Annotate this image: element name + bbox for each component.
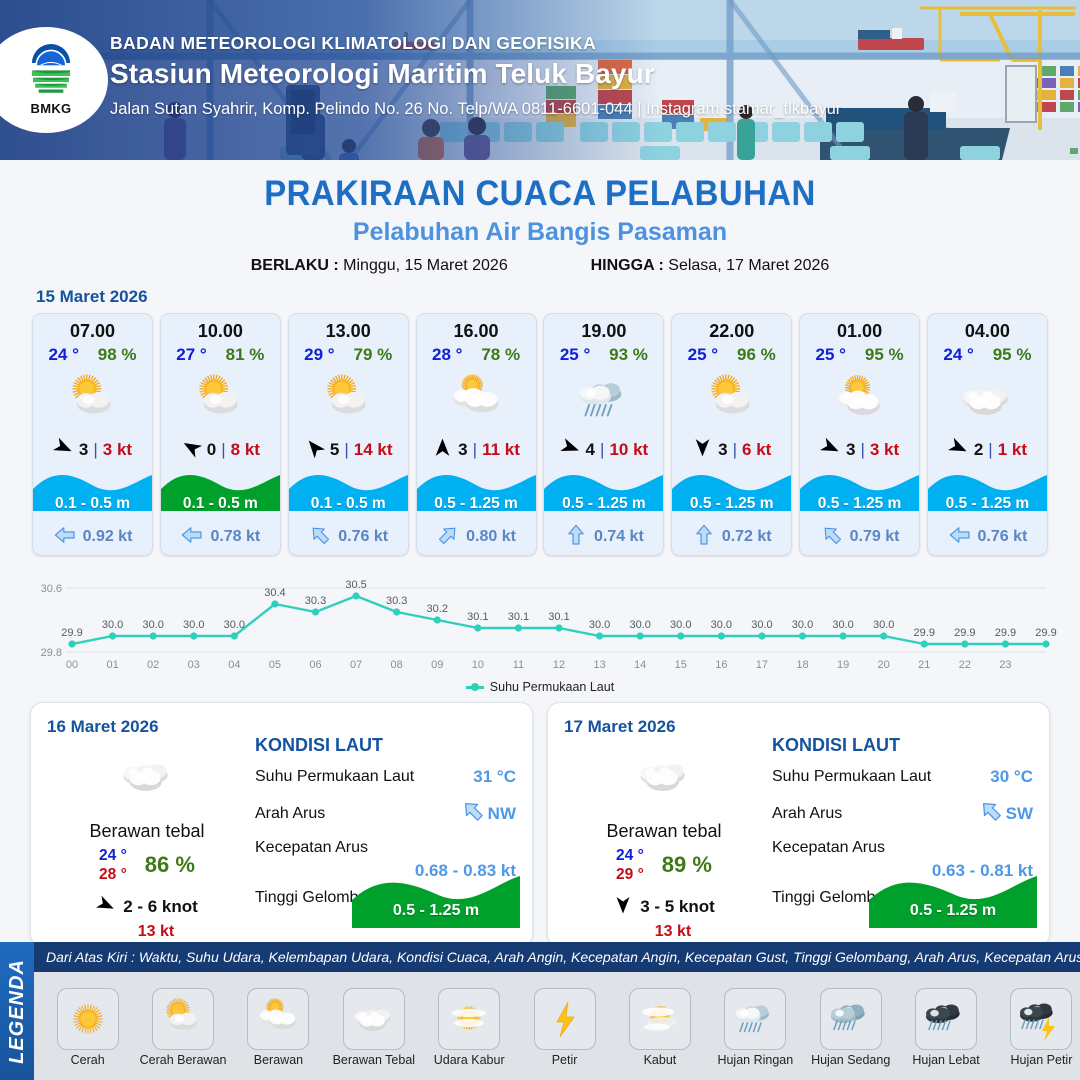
svg-text:30.0: 30.0 — [873, 619, 894, 631]
wave-height-band: 0.5 - 1.25 m — [544, 467, 663, 519]
wave-height-band: 0.5 - 1.25 m — [672, 467, 791, 519]
hingga-value: Selasa, 17 Maret 2026 — [668, 257, 829, 274]
svg-text:11: 11 — [513, 659, 524, 671]
day-wave-band: 0.5 - 1.25 m — [869, 870, 1037, 928]
legend-note: Dari Atas Kiri : Waktu, Suhu Udara, Kele… — [34, 942, 1080, 972]
bmkg-logo-text: BMKG — [31, 101, 72, 116]
current-direction-icon — [308, 523, 332, 552]
humidity: 95 % — [993, 345, 1032, 365]
berawan-icon — [417, 367, 536, 433]
berlaku-value: Minggu, 15 Maret 2026 — [343, 257, 508, 274]
current-direction-icon — [820, 523, 844, 552]
humidity: 96 % — [737, 345, 776, 365]
forecast-time: 16.00 — [417, 314, 536, 342]
current-info: 0.80 kt — [417, 519, 536, 555]
hujan-ringan-icon — [544, 367, 663, 433]
day-humidity: 89 % — [662, 852, 712, 878]
sst-chart: 30.629.829.930.030.030.030.030.430.330.5… — [20, 572, 1060, 676]
forecast-card: 04.00 24 ° 95 % 2 | 1 kt 0.5 - 1.25 m — [927, 313, 1048, 556]
forecast-time: 10.00 — [161, 314, 280, 342]
svg-text:16: 16 — [715, 659, 727, 671]
day-panel-right: KONDISI LAUT Suhu Permukaan Laut 31 °C A… — [247, 717, 516, 934]
legend-item-label: Kabut — [644, 1053, 677, 1067]
current-speed: 0.74 kt — [594, 528, 644, 546]
svg-text:30.0: 30.0 — [224, 619, 245, 631]
svg-text:30.0: 30.0 — [792, 619, 813, 631]
svg-text:13: 13 — [593, 659, 605, 671]
svg-text:19: 19 — [837, 659, 849, 671]
station-name: Stasiun Meteorologi Maritim Teluk Bayur — [110, 58, 655, 90]
chart-legend-marker — [466, 686, 484, 689]
day-panel: 16 Maret 2026 Berawan tebal 24 ° 28 ° 86… — [30, 702, 533, 947]
wave-height-value: 0.5 - 1.25 m — [417, 495, 536, 513]
current-info: 0.76 kt — [289, 519, 408, 555]
sst-value: 31 °C — [473, 767, 516, 787]
svg-text:30.0: 30.0 — [629, 619, 650, 631]
svg-text:29.9: 29.9 — [61, 627, 82, 639]
berawan-icon — [247, 988, 309, 1050]
forecast-card: 10.00 27 ° 81 % 0 | 8 kt 0.1 - 0.5 m 0.7… — [160, 313, 281, 556]
svg-text:01: 01 — [106, 659, 118, 671]
day-date: 16 Maret 2026 — [47, 717, 247, 737]
svg-text:00: 00 — [66, 659, 78, 671]
day-wave-value: 0.5 - 1.25 m — [869, 902, 1037, 920]
svg-text:15: 15 — [675, 659, 687, 671]
wave-height-band: 0.1 - 0.5 m — [33, 467, 152, 519]
wave-height-band: 0.1 - 0.5 m — [161, 467, 280, 519]
hujan-lebat-icon — [915, 988, 977, 1050]
svg-text:21: 21 — [918, 659, 930, 671]
forecast-card: 19.00 25 ° 93 % 4 | 10 kt 0.5 - 1.25 m — [543, 313, 664, 556]
day-panel-left: 16 Maret 2026 Berawan tebal 24 ° 28 ° 86… — [47, 717, 247, 934]
organization-name: BADAN METEOROLOGI KLIMATOLOGI DAN GEOFIS… — [110, 33, 596, 54]
svg-text:30.0: 30.0 — [183, 619, 204, 631]
current-speed: 0.72 kt — [722, 528, 772, 546]
legend-item: Cerah Berawan — [137, 988, 229, 1067]
legend-item: Berawan Tebal — [328, 988, 420, 1067]
forecast-time: 07.00 — [33, 314, 152, 342]
wind-info: 2 | 1 kt — [928, 433, 1047, 467]
current-direction-value: NW — [488, 804, 516, 824]
gust-speed: 11 kt — [482, 440, 520, 460]
day-gust: 13 kt — [582, 923, 764, 941]
day-temps: 24 ° 29 ° — [616, 846, 644, 885]
svg-text:29.9: 29.9 — [914, 627, 935, 639]
forecast-time: 04.00 — [928, 314, 1047, 342]
current-info: 0.79 kt — [800, 519, 919, 555]
legend-item-label: Udara Kabur — [434, 1053, 505, 1067]
svg-text:04: 04 — [228, 659, 240, 671]
day-date: 17 Maret 2026 — [564, 717, 764, 737]
current-info: 0.74 kt — [544, 519, 663, 555]
day-temp-humidity: 24 ° 29 ° 89 % — [564, 846, 764, 885]
current-speed: 0.76 kt — [978, 528, 1028, 546]
wind-range: 2 - 6 knot — [123, 897, 198, 917]
current-info: 0.78 kt — [161, 519, 280, 555]
forecast-time: 13.00 — [289, 314, 408, 342]
forecast-temp-humidity: 25 ° 95 % — [800, 342, 919, 365]
wind-info: 3 | 3 kt — [33, 433, 152, 467]
gust-speed: 3 kt — [103, 440, 132, 460]
wind-direction-icon — [820, 437, 841, 463]
svg-text:06: 06 — [309, 659, 321, 671]
hujan-sedang-icon — [820, 988, 882, 1050]
legend-item: Hujan Ringan — [709, 988, 801, 1067]
forecast-temp-humidity: 24 ° 98 % — [33, 342, 152, 365]
svg-text:30.3: 30.3 — [305, 595, 326, 607]
wind-speed: 3 — [79, 440, 88, 460]
sst-label: Suhu Permukaan Laut — [255, 768, 414, 786]
svg-text:29.9: 29.9 — [995, 627, 1016, 639]
wind-info: 3 | 11 kt — [417, 433, 536, 467]
svg-text:05: 05 — [269, 659, 281, 671]
legend-item-label: Hujan Ringan — [717, 1053, 793, 1067]
wave-height-band: 0.5 - 1.25 m — [928, 467, 1047, 519]
legend-body: Dari Atas Kiri : Waktu, Suhu Udara, Kele… — [34, 942, 1080, 1080]
gust-speed: 1 kt — [998, 440, 1027, 460]
humidity: 79 % — [353, 345, 392, 365]
legend-item: Kabut — [614, 988, 706, 1067]
current-speed: 0.78 kt — [210, 528, 260, 546]
wave-height-value: 0.1 - 0.5 m — [289, 495, 408, 513]
current-direction-row: Arah Arus NW — [255, 798, 516, 829]
day-temp-humidity: 24 ° 28 ° 86 % — [47, 846, 247, 885]
legend-item: Cerah — [42, 988, 134, 1067]
forecast-card: 01.00 25 ° 95 % 3 | 3 kt 0.5 - 1.25 m — [799, 313, 920, 556]
current-direction-icon — [948, 523, 972, 552]
wind-info: 3 | 3 kt — [800, 433, 919, 467]
forecast-temp-humidity: 28 ° 78 % — [417, 342, 536, 365]
air-temperature: 25 ° — [816, 345, 846, 365]
svg-text:02: 02 — [147, 659, 159, 671]
svg-text:30.4: 30.4 — [264, 587, 285, 599]
svg-text:30.2: 30.2 — [427, 603, 448, 615]
wind-direction-icon — [613, 895, 633, 920]
current-direction-icon — [53, 523, 77, 552]
current-direction-icon — [692, 523, 716, 552]
svg-text:14: 14 — [634, 659, 646, 671]
berawan-tebal-icon — [928, 367, 1047, 433]
current-direction-value: SW — [1006, 804, 1033, 824]
svg-text:17: 17 — [756, 659, 768, 671]
wind-info: 4 | 10 kt — [544, 433, 663, 467]
cerah-icon — [57, 988, 119, 1050]
page-subtitle: Pelabuhan Air Bangis Pasaman — [0, 218, 1080, 247]
current-direction-icon — [564, 523, 588, 552]
legend-tab: LEGENDA — [0, 942, 34, 1080]
current-info: 0.92 kt — [33, 519, 152, 555]
wave-height-value: 0.1 - 0.5 m — [33, 495, 152, 513]
svg-text:30.0: 30.0 — [751, 619, 772, 631]
day-panel-right: KONDISI LAUT Suhu Permukaan Laut 30 °C A… — [764, 717, 1033, 934]
wave-height-value: 0.5 - 1.25 m — [928, 495, 1047, 513]
wind-direction-icon — [948, 437, 969, 463]
kabut-icon — [629, 988, 691, 1050]
humidity: 93 % — [609, 345, 648, 365]
bmkg-logo-mark — [23, 44, 79, 100]
wind-separator: | — [860, 440, 864, 460]
legend-item-label: Cerah — [71, 1053, 105, 1067]
cerah-berawan-icon — [152, 988, 214, 1050]
svg-text:29.9: 29.9 — [1035, 627, 1056, 639]
svg-text:30.1: 30.1 — [508, 611, 529, 623]
temp-max: 28 ° — [99, 865, 127, 884]
cerah-berawan-icon — [672, 367, 791, 433]
humidity: 95 % — [865, 345, 904, 365]
current-direction-value-group: NW — [460, 798, 516, 829]
chart-legend-label: Suhu Permukaan Laut — [490, 680, 614, 694]
wind-direction-icon — [53, 437, 74, 463]
svg-text:03: 03 — [188, 659, 200, 671]
forecast-card: 22.00 25 ° 96 % 3 | 6 kt 0.5 - 1.25 m 0.… — [671, 313, 792, 556]
wind-direction-icon — [304, 437, 325, 463]
current-speed: 0.79 kt — [850, 528, 900, 546]
svg-text:23: 23 — [999, 659, 1011, 671]
svg-text:08: 08 — [391, 659, 403, 671]
humidity: 98 % — [98, 345, 137, 365]
wave-height-value: 0.1 - 0.5 m — [161, 495, 280, 513]
sst-row: Suhu Permukaan Laut 31 °C — [255, 767, 516, 787]
svg-text:30.1: 30.1 — [467, 611, 488, 623]
wind-speed: 4 — [586, 440, 595, 460]
air-temperature: 27 ° — [176, 345, 206, 365]
day-temps: 24 ° 28 ° — [99, 846, 127, 885]
day-panel-left: 17 Maret 2026 Berawan tebal 24 ° 29 ° 89… — [564, 717, 764, 934]
wind-separator: | — [600, 440, 604, 460]
berawan-tebal-icon — [343, 988, 405, 1050]
humidity: 78 % — [481, 345, 520, 365]
svg-text:30.0: 30.0 — [142, 619, 163, 631]
wind-direction-icon — [692, 437, 713, 463]
sea-conditions-title: KONDISI LAUT — [255, 735, 516, 756]
wave-height-band: 0.5 - 1.25 m — [800, 467, 919, 519]
day-wave-band: 0.5 - 1.25 m — [352, 870, 520, 928]
legend-item: Berawan — [232, 988, 324, 1067]
cerah-berawan-icon — [289, 367, 408, 433]
legend-item: Petir — [519, 988, 611, 1067]
wind-separator: | — [473, 440, 477, 460]
gust-speed: 3 kt — [870, 440, 899, 460]
wind-separator: | — [221, 440, 225, 460]
wind-speed: 3 — [718, 440, 727, 460]
svg-text:10: 10 — [472, 659, 484, 671]
gust-speed: 14 kt — [354, 440, 393, 460]
daily-panels: 16 Maret 2026 Berawan tebal 24 ° 28 ° 86… — [0, 694, 1080, 947]
forecast-card: 16.00 28 ° 78 % 3 | 11 kt 0.5 - 1.25 m — [416, 313, 537, 556]
svg-text:20: 20 — [878, 659, 890, 671]
current-speed-label: Kecepatan Arus — [255, 839, 516, 857]
forecast-date-label: 15 Maret 2026 — [36, 287, 1080, 307]
wind-direction-icon — [181, 437, 202, 463]
sea-conditions-title: KONDISI LAUT — [772, 735, 1033, 756]
legend-item-label: Hujan Lebat — [912, 1053, 979, 1067]
forecast-temp-humidity: 24 ° 95 % — [928, 342, 1047, 365]
wind-separator: | — [733, 440, 737, 460]
svg-text:30.3: 30.3 — [386, 595, 407, 607]
svg-text:30.1: 30.1 — [548, 611, 569, 623]
current-direction-icon — [180, 523, 204, 552]
forecast-time: 19.00 — [544, 314, 663, 342]
current-direction-row: Arah Arus SW — [772, 798, 1033, 829]
page-title: PRAKIRAAN CUACA PELABUHAN — [32, 174, 1047, 214]
current-direction-label: Arah Arus — [772, 805, 842, 823]
cerah-berawan-icon — [33, 367, 152, 433]
wind-direction-icon — [560, 437, 581, 463]
wind-speed: 0 — [207, 440, 216, 460]
sst-chart-svg: 30.629.829.930.030.030.030.030.430.330.5… — [20, 572, 1060, 676]
svg-text:29.9: 29.9 — [954, 627, 975, 639]
svg-text:30.0: 30.0 — [711, 619, 732, 631]
legend-item-label: Petir — [552, 1053, 578, 1067]
berawan-cerah-malam-icon — [800, 367, 919, 433]
sst-value: 30 °C — [990, 767, 1033, 787]
wind-direction-icon — [96, 895, 116, 920]
contact-info: Jalan Sutan Syahrir, Komp. Pelindo No. 2… — [110, 100, 841, 119]
day-humidity: 86 % — [145, 852, 195, 878]
wind-direction-icon — [432, 437, 453, 463]
svg-text:09: 09 — [431, 659, 443, 671]
temp-max: 29 ° — [616, 865, 644, 884]
cerah-berawan-icon — [161, 367, 280, 433]
current-direction-label: Arah Arus — [255, 805, 325, 823]
day-condition: Berawan tebal — [564, 821, 764, 842]
wind-info: 0 | 8 kt — [161, 433, 280, 467]
gust-speed: 6 kt — [742, 440, 771, 460]
petir-icon — [534, 988, 596, 1050]
air-temperature: 28 ° — [432, 345, 462, 365]
current-speed: 0.80 kt — [466, 528, 516, 546]
svg-text:22: 22 — [959, 659, 971, 671]
header-banner: BMKG BADAN METEOROLOGI KLIMATOLOGI DAN G… — [0, 0, 1080, 160]
berawan-tebal-icon — [564, 745, 764, 807]
current-direction-icon — [460, 798, 486, 829]
berlaku-label: BERLAKU : — [251, 257, 339, 274]
legend-item-label: Cerah Berawan — [140, 1053, 227, 1067]
forecast-card: 13.00 29 ° 79 % 5 | 14 kt 0.1 - 0.5 m 0.… — [288, 313, 409, 556]
legend-items: Cerah Cerah Berawan Berawan Berawan Teba… — [34, 972, 1080, 1080]
title-section: PRAKIRAAN CUACA PELABUHAN Pelabuhan Air … — [0, 174, 1080, 275]
legend-item: Udara Kabur — [423, 988, 515, 1067]
wave-height-band: 0.1 - 0.5 m — [289, 467, 408, 519]
forecast-temp-humidity: 25 ° 96 % — [672, 342, 791, 365]
temp-min: 24 ° — [616, 846, 644, 865]
current-info: 0.76 kt — [928, 519, 1047, 555]
current-info: 0.72 kt — [672, 519, 791, 555]
day-gust: 13 kt — [65, 923, 247, 941]
forecast-card-row: 07.00 24 ° 98 % 3 | 3 kt 0.1 - 0.5 m 0.9… — [0, 313, 1080, 556]
wind-info: 5 | 14 kt — [289, 433, 408, 467]
wind-range: 3 - 5 knot — [640, 897, 715, 917]
chart-legend: Suhu Permukaan Laut — [0, 680, 1080, 694]
svg-text:30.0: 30.0 — [670, 619, 691, 631]
day-wave-value: 0.5 - 1.25 m — [352, 902, 520, 920]
gust-speed: 10 kt — [609, 440, 648, 460]
air-temperature: 25 ° — [560, 345, 590, 365]
berawan-tebal-icon — [47, 745, 247, 807]
hujan-ringan-icon — [724, 988, 786, 1050]
svg-text:07: 07 — [350, 659, 362, 671]
current-direction-icon — [436, 523, 460, 552]
svg-text:30.0: 30.0 — [589, 619, 610, 631]
svg-text:30.5: 30.5 — [345, 579, 366, 591]
forecast-temp-humidity: 29 ° 79 % — [289, 342, 408, 365]
wind-speed: 5 — [330, 440, 339, 460]
sst-row: Suhu Permukaan Laut 30 °C — [772, 767, 1033, 787]
wind-speed: 3 — [846, 440, 855, 460]
temp-min: 24 ° — [99, 846, 127, 865]
current-direction-icon — [978, 798, 1004, 829]
validity-period: BERLAKU : Minggu, 15 Maret 2026 HINGGA :… — [0, 257, 1080, 275]
svg-text:29.8: 29.8 — [41, 647, 62, 659]
wind-separator: | — [344, 440, 348, 460]
day-panel: 17 Maret 2026 Berawan tebal 24 ° 29 ° 89… — [547, 702, 1050, 947]
hingga-label: HINGGA : — [591, 257, 664, 274]
day-condition: Berawan tebal — [47, 821, 247, 842]
legend-strip: LEGENDA Dari Atas Kiri : Waktu, Suhu Uda… — [0, 942, 1080, 1080]
wave-height-value: 0.5 - 1.25 m — [544, 495, 663, 513]
hujan-petir-icon — [1010, 988, 1072, 1050]
forecast-card: 07.00 24 ° 98 % 3 | 3 kt 0.1 - 0.5 m 0.9… — [32, 313, 153, 556]
wave-height-band: 0.5 - 1.25 m — [417, 467, 536, 519]
udara-kabur-icon — [438, 988, 500, 1050]
legend-item-label: Berawan Tebal — [333, 1053, 415, 1067]
wind-info: 3 | 6 kt — [672, 433, 791, 467]
legend-item: Hujan Sedang — [805, 988, 897, 1067]
wind-speed: 2 — [974, 440, 983, 460]
sst-label: Suhu Permukaan Laut — [772, 768, 931, 786]
svg-text:30.0: 30.0 — [102, 619, 123, 631]
legend-item-label: Hujan Sedang — [811, 1053, 890, 1067]
legend-item-label: Berawan — [254, 1053, 303, 1067]
forecast-temp-humidity: 27 ° 81 % — [161, 342, 280, 365]
current-speed: 0.92 kt — [83, 528, 133, 546]
wind-speed: 3 — [458, 440, 467, 460]
svg-text:30.6: 30.6 — [41, 583, 62, 595]
wind-separator: | — [988, 440, 992, 460]
legend-item: Hujan Petir — [995, 988, 1080, 1067]
air-temperature: 29 ° — [304, 345, 334, 365]
day-wind: 2 - 6 knot — [47, 895, 247, 920]
day-wind: 3 - 5 knot — [564, 895, 764, 920]
humidity: 81 % — [226, 345, 265, 365]
wave-height-value: 0.5 - 1.25 m — [672, 495, 791, 513]
gust-speed: 8 kt — [231, 440, 260, 460]
svg-text:12: 12 — [553, 659, 565, 671]
forecast-temp-humidity: 25 ° 93 % — [544, 342, 663, 365]
wave-height-value: 0.5 - 1.25 m — [800, 495, 919, 513]
forecast-time: 22.00 — [672, 314, 791, 342]
svg-text:30.0: 30.0 — [832, 619, 853, 631]
current-speed: 0.76 kt — [338, 528, 388, 546]
air-temperature: 24 ° — [943, 345, 973, 365]
legend-tab-label: LEGENDA — [6, 959, 29, 1064]
svg-text:18: 18 — [796, 659, 808, 671]
legend-item: Hujan Lebat — [900, 988, 992, 1067]
forecast-time: 01.00 — [800, 314, 919, 342]
air-temperature: 24 ° — [48, 345, 78, 365]
air-temperature: 25 ° — [688, 345, 718, 365]
wind-separator: | — [93, 440, 97, 460]
legend-item-label: Hujan Petir — [1011, 1053, 1073, 1067]
current-speed-label: Kecepatan Arus — [772, 839, 1033, 857]
current-direction-value-group: SW — [978, 798, 1033, 829]
